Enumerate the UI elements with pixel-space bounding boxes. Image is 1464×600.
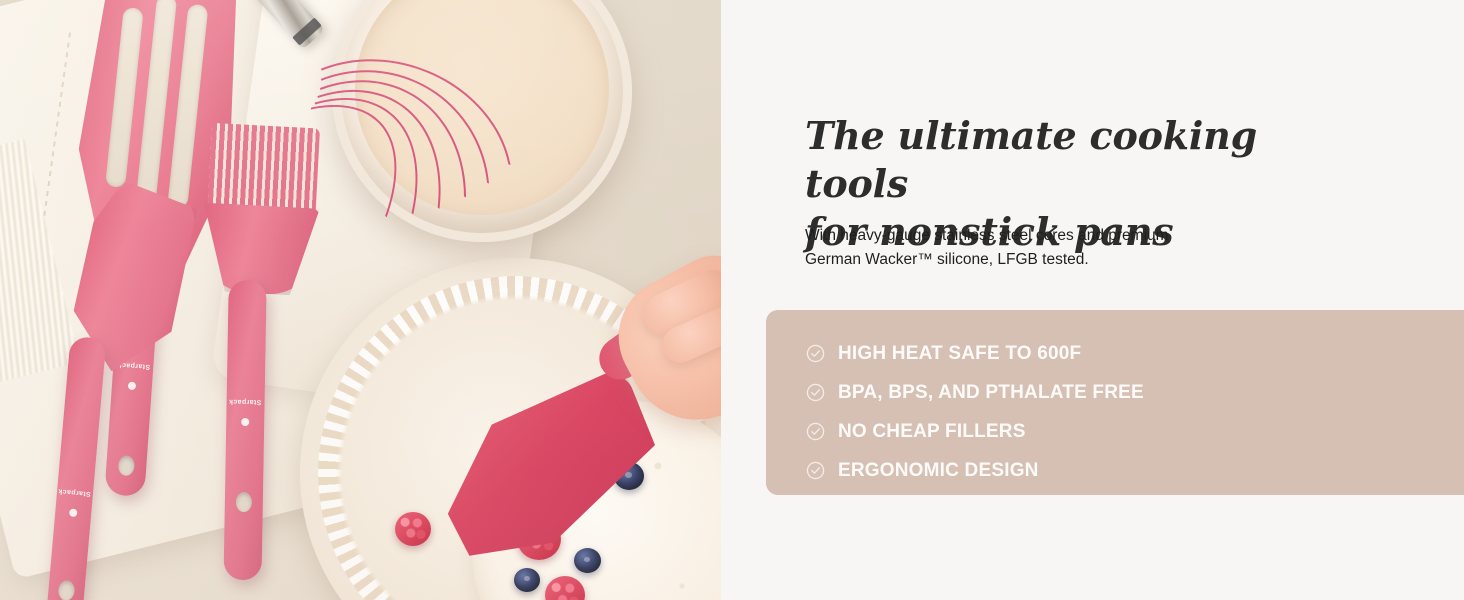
feature-item: NO CHEAP FILLERS	[806, 412, 1464, 451]
spatula-handle: Starpack	[45, 336, 106, 600]
subcopy-line-1: With heavy-gauge stainless steel cores a…	[805, 227, 1169, 244]
feature-label: ERGONOMIC DESIGN	[838, 461, 1039, 480]
brand-text: Starpack	[229, 398, 262, 406]
hang-hole	[236, 492, 252, 512]
brand-logo-icon	[241, 418, 249, 426]
feature-label: BPA, BPS, AND PTHALATE FREE	[838, 383, 1144, 402]
large-spatula-blade	[421, 366, 675, 576]
basting-brush: Starpack	[170, 122, 334, 589]
check-circle-icon	[806, 422, 825, 441]
brush-handle: Starpack	[224, 280, 267, 581]
check-circle-icon	[806, 383, 825, 402]
feature-item: HIGH HEAT SAFE TO 600F	[806, 334, 1464, 373]
product-photo: Starpack Starpack Starpack	[0, 0, 721, 600]
feature-label: HIGH HEAT SAFE TO 600F	[838, 344, 1081, 363]
feature-label: NO CHEAP FILLERS	[838, 422, 1026, 441]
whisk-wires	[300, 20, 600, 240]
product-feature-banner: Starpack Starpack Starpack	[0, 0, 1464, 600]
feature-item: BPA, BPS, AND PTHALATE FREE	[806, 373, 1464, 412]
feature-item: ERGONOMIC DESIGN	[806, 451, 1464, 490]
brush-bristles	[208, 123, 320, 215]
hang-hole	[58, 580, 76, 600]
content-panel: The ultimate cooking tools for nonstick …	[721, 0, 1464, 600]
check-circle-icon	[806, 344, 825, 363]
raspberry	[395, 512, 431, 546]
check-circle-icon	[806, 461, 825, 480]
brand-text: Starpack	[58, 487, 91, 497]
brand-logo-icon	[69, 508, 78, 517]
subcopy-line-2: German Wacker™ silicone, LFGB tested.	[805, 251, 1089, 268]
brush-ferrule	[199, 203, 319, 297]
feature-list: HIGH HEAT SAFE TO 600F BPA, BPS, AND PTH…	[766, 310, 1464, 495]
headline-line-1: The ultimate cooking tools	[805, 113, 1257, 206]
subcopy: With heavy-gauge stainless steel cores a…	[805, 224, 1275, 272]
